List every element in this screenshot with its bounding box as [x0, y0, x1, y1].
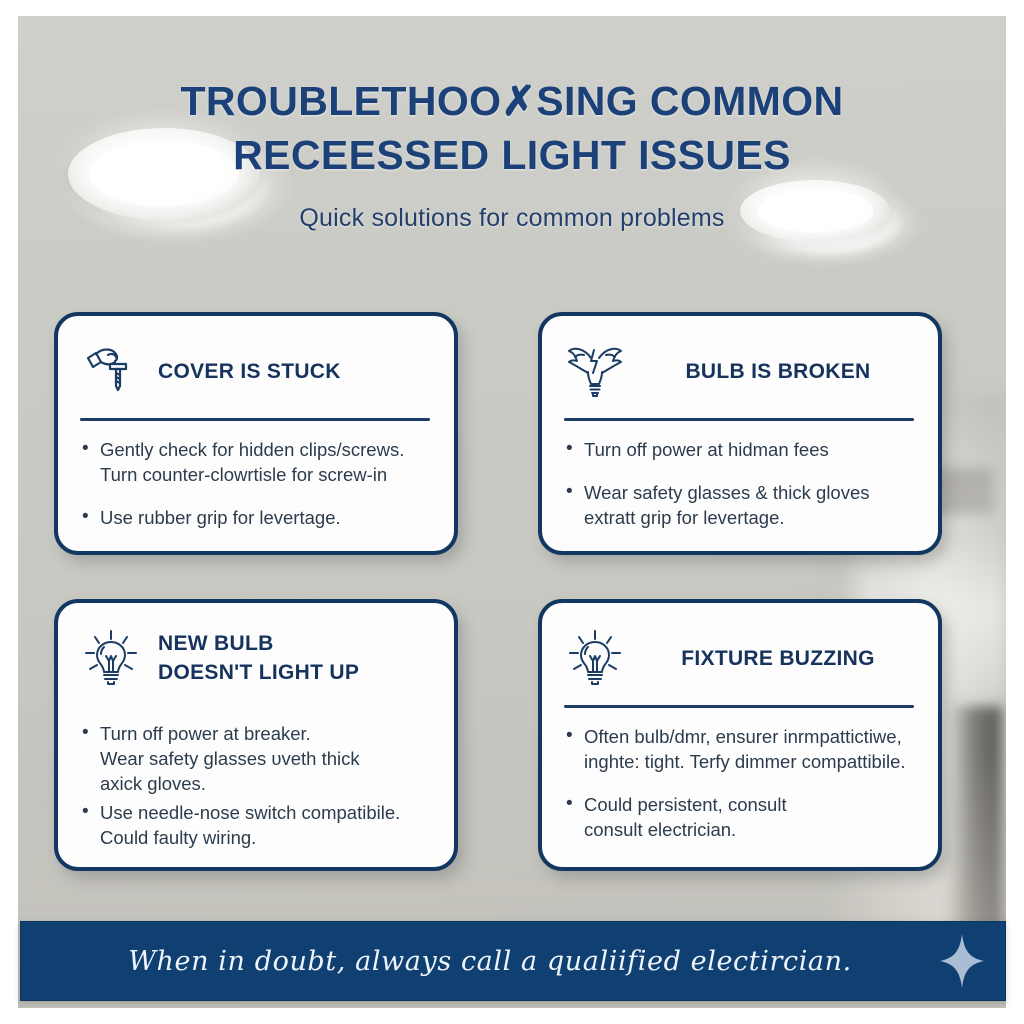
- issue-card-grid: COVER IS STUCK Gently check for hidden c…: [54, 312, 942, 871]
- card-bullet-list: Turn off power at hidman fees Wear safet…: [564, 437, 914, 530]
- list-item: Gently check for hidden clips/screws. Tu…: [80, 437, 430, 487]
- card-header: COVER IS STUCK: [80, 338, 430, 404]
- list-item: Turn off power at breaker. Wear safety g…: [80, 721, 430, 796]
- card-divider: [564, 418, 914, 421]
- issue-card-fixture-buzzing[interactable]: FIXTURE BUZZING Often bulb/dmr, ensurer …: [538, 599, 942, 871]
- footer-message: When in doubt, always call a qualiified …: [21, 946, 919, 977]
- broken-winged-bulb-icon: [564, 340, 626, 402]
- issue-card-new-bulb-doesnt-light-up[interactable]: NEW BULB DOESN'T LIGHT UP Turn off power…: [54, 599, 458, 871]
- page-title: TROUBLETHOO✗SING COMMON RECEESSED LIGHT …: [0, 74, 1024, 182]
- page-subtitle: Quick solutions for common problems: [0, 204, 1024, 233]
- four-point-sparkle-icon: [919, 934, 1005, 988]
- card-bullet-list: Often bulb/dmr, ensurer inrmpattictiwe, …: [564, 724, 914, 842]
- list-item: Wear safety glasses & thick gloves extra…: [564, 480, 914, 530]
- card-bullet-list: Gently check for hidden clips/screws. Tu…: [80, 437, 430, 530]
- list-item: Could persistent, consult consult electr…: [564, 792, 914, 842]
- card-bullet-list: Turn off power at breaker. Wear safety g…: [80, 721, 430, 854]
- card-divider: [564, 705, 914, 708]
- hand-screwdriver-icon: [80, 340, 142, 402]
- issue-card-cover-is-stuck[interactable]: COVER IS STUCK Gently check for hidden c…: [54, 312, 458, 555]
- card-header: FIXTURE BUZZING: [564, 625, 914, 691]
- card-title: BULB IS BROKEN: [642, 357, 914, 386]
- list-item: Use needle-nose switch compatibile. Coul…: [80, 800, 430, 850]
- card-title: FIXTURE BUZZING: [642, 644, 914, 673]
- shining-lightbulb-icon: [80, 627, 142, 689]
- footer-banner: When in doubt, always call a qualiified …: [20, 921, 1006, 1001]
- infographic-poster: TROUBLETHOO✗SING COMMON RECEESSED LIGHT …: [0, 0, 1024, 1024]
- card-divider: [80, 418, 430, 421]
- card-title: COVER IS STUCK: [158, 357, 430, 386]
- card-header: BULB IS BROKEN: [564, 338, 914, 404]
- list-item: Turn off power at hidman fees: [564, 437, 914, 462]
- card-title: NEW BULB DOESN'T LIGHT UP: [158, 629, 430, 687]
- list-item: Use rubber grip for levertage.: [80, 505, 430, 530]
- shining-lightbulb-icon: [564, 627, 626, 689]
- card-header: NEW BULB DOESN'T LIGHT UP: [80, 625, 430, 691]
- issue-card-bulb-is-broken[interactable]: BULB IS BROKEN Turn off power at hidman …: [538, 312, 942, 555]
- list-item: Often bulb/dmr, ensurer inrmpattictiwe, …: [564, 724, 914, 774]
- poster-header: TROUBLETHOO✗SING COMMON RECEESSED LIGHT …: [0, 74, 1024, 233]
